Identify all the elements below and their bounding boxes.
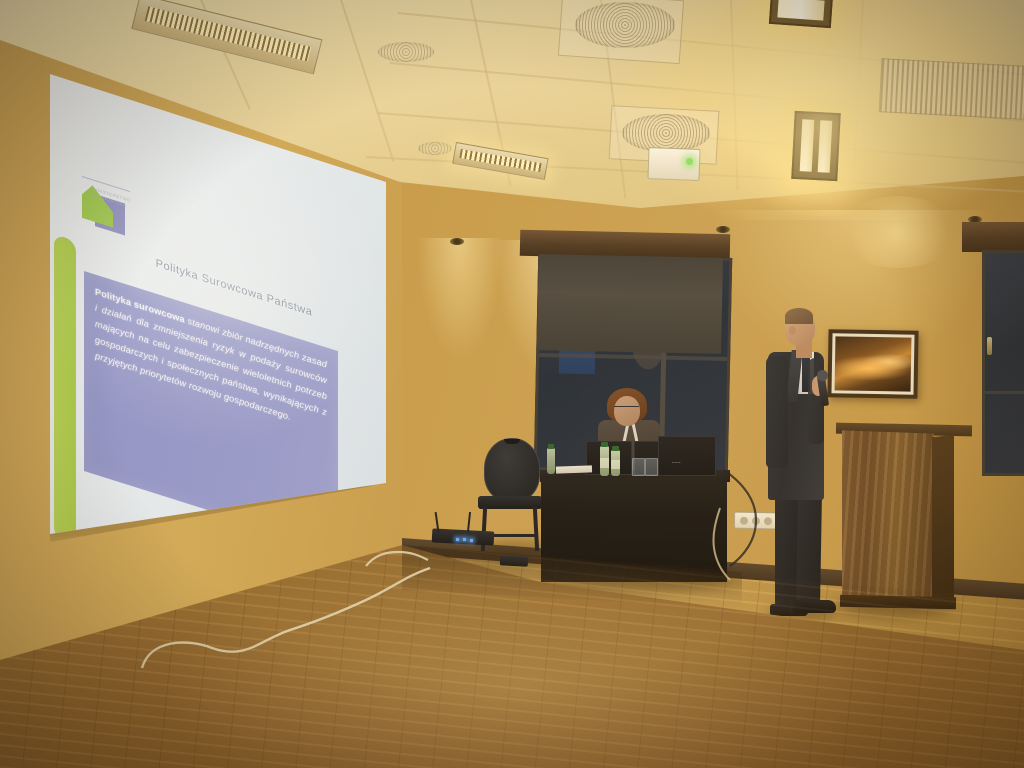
slide-corner-swoosh-icon xyxy=(356,493,372,520)
power-brick xyxy=(500,555,528,566)
ministry-logo xyxy=(82,176,130,239)
ceiling-air-diffuser-4 xyxy=(418,142,452,155)
projected-slide: MINISTERSTWO ŚRODOWISKA Polityka Surowco… xyxy=(36,58,396,548)
slide-body-rest: stanowi zbiór nadrzędnych zasad i działa… xyxy=(95,303,327,423)
sensor-led-indicator xyxy=(686,158,693,165)
window-handle-right-icon[interactable] xyxy=(987,337,992,355)
wall-socket[interactable] xyxy=(734,512,778,530)
speaker-hair xyxy=(785,308,813,324)
laptop-right[interactable] xyxy=(658,436,716,476)
microphone-head-icon xyxy=(817,370,828,381)
papers[interactable] xyxy=(556,465,592,473)
framed-picture xyxy=(827,329,918,399)
speaker-arm-near xyxy=(766,356,788,468)
ceiling-air-diffuser-2 xyxy=(622,114,710,152)
bottle-cap xyxy=(612,446,619,451)
status-led xyxy=(470,539,473,542)
pendant-lamp-upper xyxy=(769,0,833,28)
window-mullion-right xyxy=(985,391,1024,394)
picture-artwork xyxy=(835,336,912,391)
drinking-glass-1[interactable] xyxy=(632,458,645,476)
conference-room-photo: MINISTERSTWO ŚRODOWISKA Polityka Surowco… xyxy=(0,0,1024,768)
status-led xyxy=(456,538,459,541)
water-bottle-3[interactable] xyxy=(547,448,555,474)
ceiling-spotlight xyxy=(450,238,464,245)
ceiling-spotlight xyxy=(716,226,730,233)
window-pelmet-right xyxy=(962,222,1024,252)
moderator-head xyxy=(614,396,640,426)
window-glass-right xyxy=(985,253,1024,473)
ceiling-sensor xyxy=(647,147,700,181)
slide-accent-bar xyxy=(54,234,76,545)
lectern-side-panel xyxy=(932,435,954,605)
lectern xyxy=(842,430,934,605)
window-right[interactable] xyxy=(982,250,1024,476)
chair-grip-notch xyxy=(504,439,520,444)
ceiling-air-diffuser-1 xyxy=(575,2,675,48)
status-led xyxy=(463,538,466,541)
bottle-label xyxy=(600,458,609,468)
picture-mat xyxy=(831,333,914,394)
speaker-ear xyxy=(789,326,796,335)
pendant-lamp-glow xyxy=(712,36,932,216)
laptop-left[interactable] xyxy=(586,441,632,475)
spotlight-glow xyxy=(838,196,958,268)
moderator-glasses-icon xyxy=(614,406,639,410)
drinking-glass-2[interactable] xyxy=(645,458,658,476)
bottle-label xyxy=(611,460,620,469)
roller-blind-center[interactable] xyxy=(537,254,723,354)
lectern-wood-grain xyxy=(842,430,934,605)
bottle-cap xyxy=(601,442,608,447)
bottle-cap xyxy=(548,444,554,449)
laptop-brand-mark: ━━━ xyxy=(672,460,681,465)
banquet-chair-back[interactable] xyxy=(484,438,540,502)
projection-screen[interactable]: MINISTERSTWO ŚRODOWISKA Polityka Surowco… xyxy=(36,58,396,548)
